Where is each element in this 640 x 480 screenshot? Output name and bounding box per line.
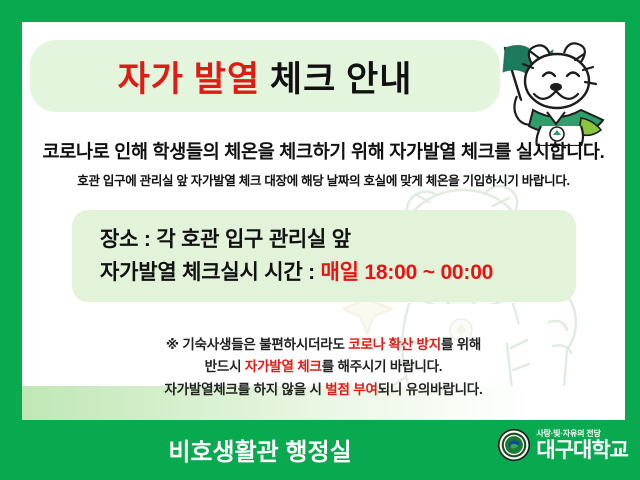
university-emblem-icon [497, 428, 531, 462]
info-location-value: 각 호관 입구 관리실 앞 [156, 228, 351, 251]
info-line-time: 자가발열 체크실시 시간 : 매일 18:00 ~ 00:00 [100, 257, 576, 290]
title-box: 자가 발열 체크 안내 [30, 40, 500, 112]
notice-1-b: 를 위해 [441, 337, 481, 352]
title-red-part: 자가 발열 [118, 60, 261, 99]
notice-1-a: ※ 기숙사생들은 불편하시더라도 [166, 337, 348, 352]
notice-block: ※ 기숙사생들은 불편하시더라도 코로나 확산 방지를 위해 반드시 자가발열 … [22, 334, 625, 401]
university-logo-text: 사랑·빛·자유의 전당 대구대학교 [536, 430, 628, 461]
tiger-mascot-with-flag-icon [477, 26, 619, 146]
university-logo: 사랑·빛·자유의 전당 대구대학교 [497, 428, 628, 462]
headline-main: 코로나로 인해 학생들의 체온을 체크하기 위해 자가발열 체크를 실시합니다. [22, 138, 625, 164]
university-tagline: 사랑·빛·자유의 전당 [536, 430, 628, 438]
footer-bar: 비호생활관 행정실 사랑·빛·자유의 전당 대구대학교 [0, 420, 640, 480]
content-panel: 자가 발열 체크 안내 [22, 22, 625, 420]
page-title: 자가 발열 체크 안내 [118, 51, 413, 102]
info-line-location: 장소 : 각 호관 입구 관리실 앞 [100, 224, 576, 257]
info-time-value: 매일 18:00 ~ 00:00 [321, 261, 494, 284]
notice-2-b: 를 해주시기 바랍니다. [322, 359, 443, 374]
notice-2-a: 반드시 [205, 359, 245, 374]
notice-3-a: 자가발열체크를 하지 않을 시 [164, 382, 325, 397]
notice-3-red: 벌점 부여 [325, 382, 377, 397]
headline-sub: 호관 입구에 관리실 앞 자가발열 체크 대장에 해당 날짜의 호실에 맞게 체… [22, 170, 625, 189]
notice-line-1: ※ 기숙사생들은 불편하시더라도 코로나 확산 방지를 위해 [22, 334, 625, 356]
info-time-label: 자가발열 체크실시 시간 : [100, 261, 321, 284]
university-name: 대구대학교 [536, 440, 628, 461]
notice-1-red: 코로나 확산 방지 [348, 337, 441, 352]
poster-root: 자가 발열 체크 안내 [0, 0, 640, 480]
notice-2-red: 자가발열 체크 [245, 359, 322, 374]
notice-line-3: 자가발열체크를 하지 않을 시 벌점 부여되니 유의바랍니다. [22, 379, 625, 401]
info-box: 장소 : 각 호관 입구 관리실 앞 자가발열 체크실시 시간 : 매일 18:… [72, 210, 576, 302]
title-black-part: 체크 안내 [260, 60, 412, 99]
notice-line-2: 반드시 자가발열 체크를 해주시기 바랍니다. [22, 356, 625, 378]
info-location-label: 장소 : [100, 228, 156, 251]
notice-3-b: 되니 유의바랍니다. [378, 382, 483, 397]
